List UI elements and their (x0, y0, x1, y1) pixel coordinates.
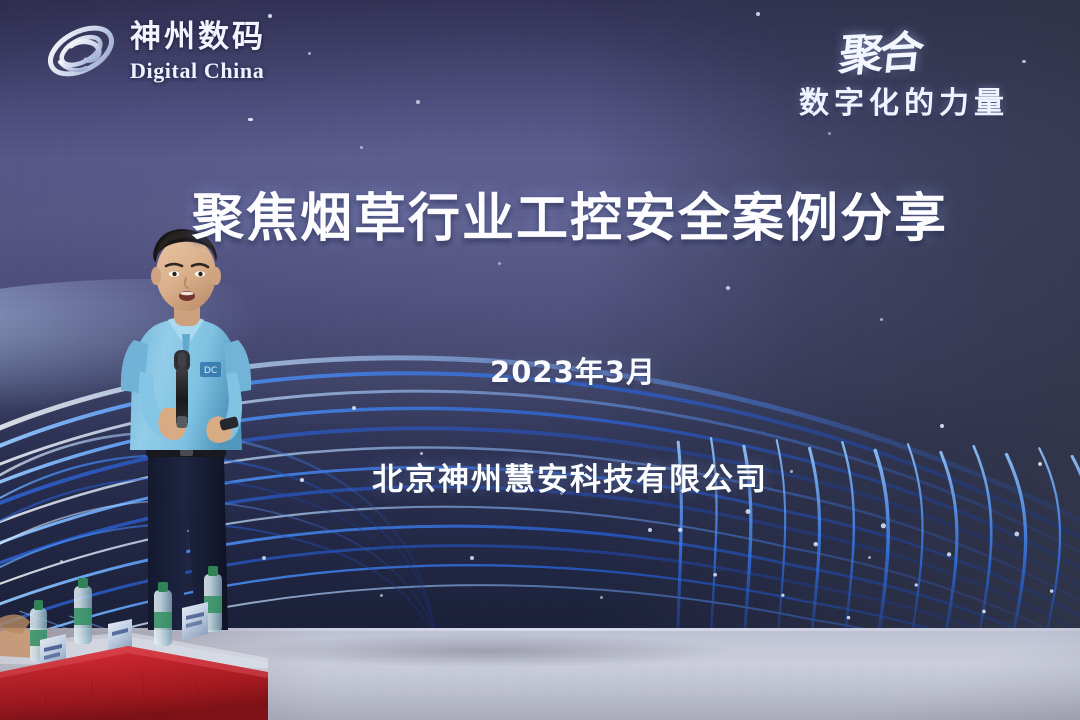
water-bottle (154, 582, 172, 646)
slide-date: 2023年3月 (0, 349, 1080, 391)
slide-company-name: 北京神州慧安科技有限公司 (0, 454, 1080, 499)
event-tagline: 数字化的力量 (754, 78, 1054, 122)
event-logo: 聚合 数字化的力量 (754, 18, 1054, 122)
brand-english-name: Digital China (130, 60, 266, 82)
event-calligraphy: 聚合 (836, 16, 923, 84)
name-card (182, 602, 208, 640)
swirl-galaxy-icon (44, 20, 118, 82)
speaker-floor-shadow (238, 634, 735, 668)
water-bottle (74, 578, 92, 644)
slide-title: 聚焦烟草行业工控安全案例分享 (0, 176, 1080, 251)
judges-panel-table (0, 560, 268, 720)
brand-chinese-name: 神州数码 (130, 22, 266, 53)
conference-stage-photo: DC (0, 0, 1080, 720)
digital-china-logo: 神州数码 Digital China (44, 20, 266, 82)
